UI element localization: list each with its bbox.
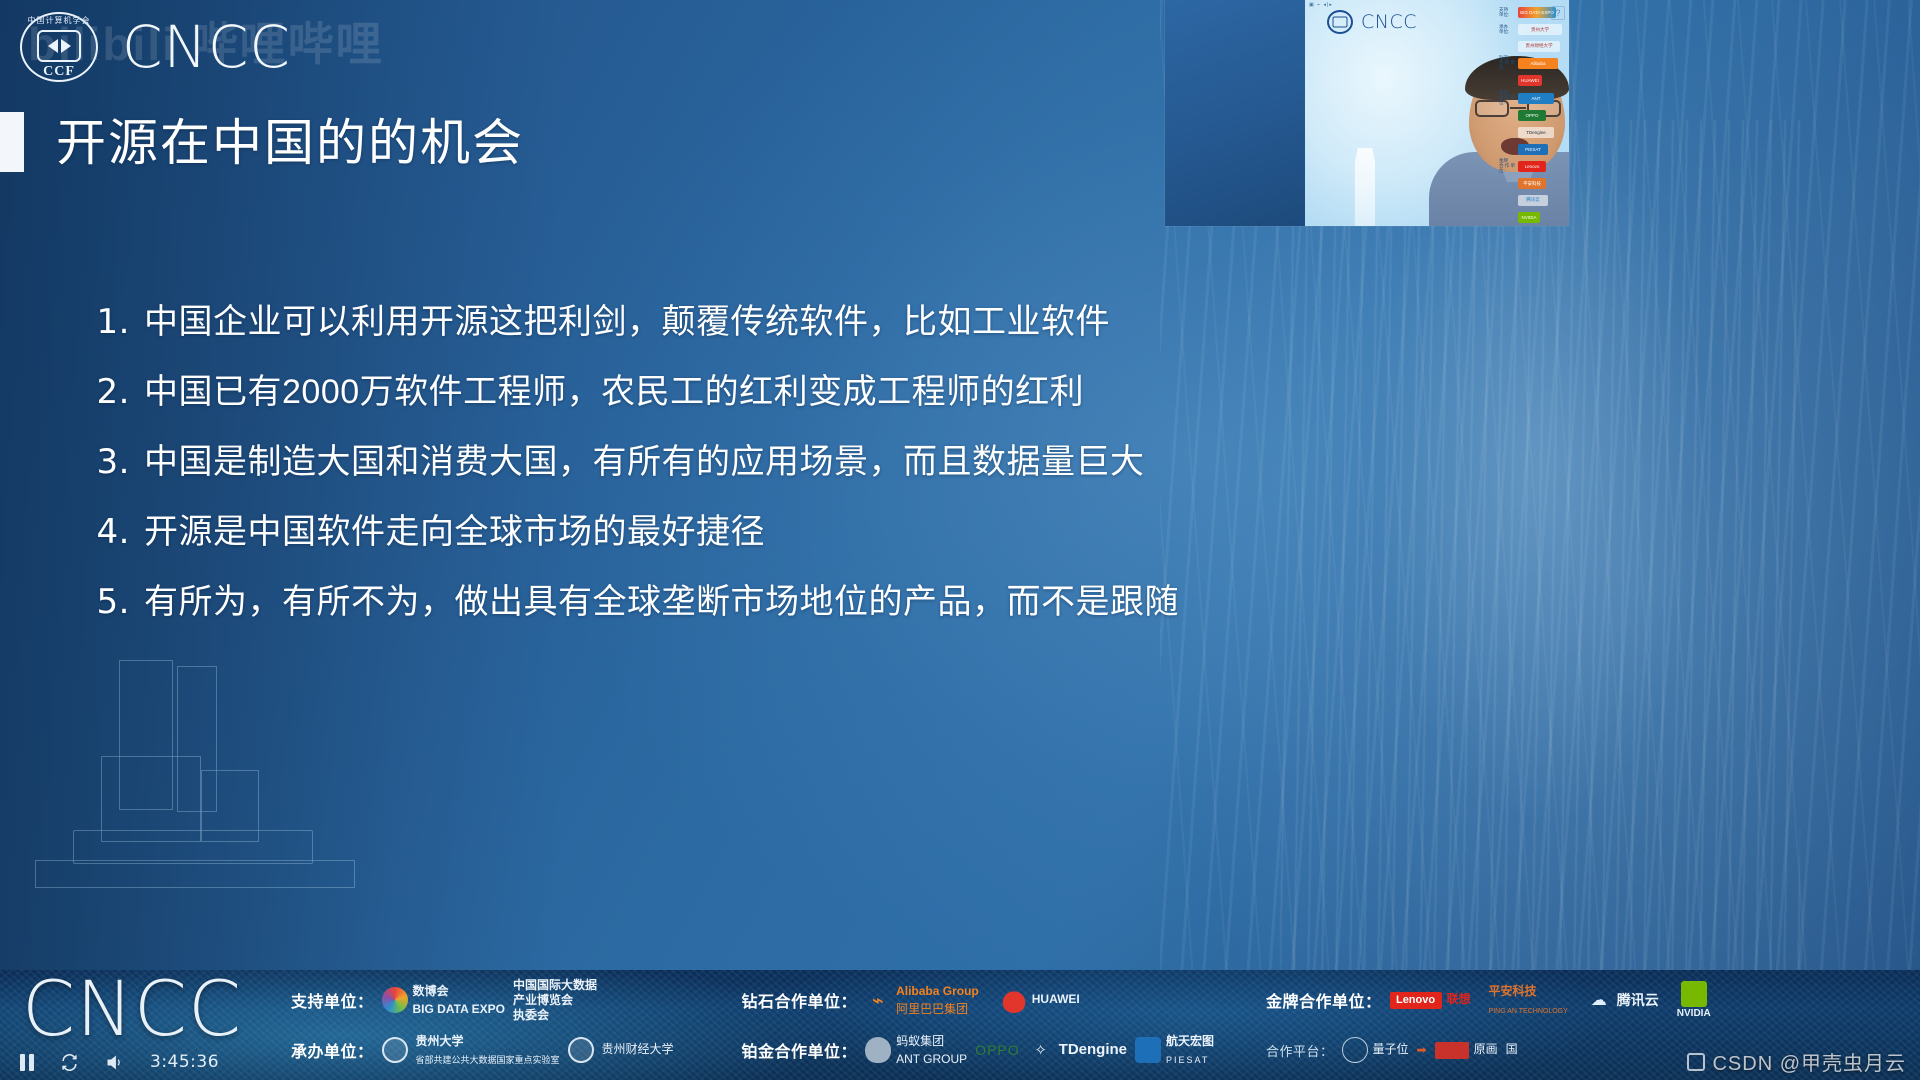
video-sponsor-label: 承办 单位: <box>1499 25 1515 35</box>
pingan-en: PING AN TECHNOLOGY <box>1489 1008 1568 1015</box>
screen-root: bilibili 哔哩哔哩 中国计算机学会 CCF CNCC 开源在中国的的机会… <box>0 0 1920 1080</box>
guizhou-university-name: 贵州大学 <box>416 1034 464 1048</box>
sponsor-columns: 支持单位： 数博会 BIG DATA EXPO 中国国际大数据 产业博览会 执委… <box>285 970 1920 1080</box>
video-status-strip: ▣ ⌁ ◂|▸ <box>1309 2 1333 8</box>
oppo-logo: OPPO <box>975 1037 1019 1063</box>
video-frame: ▣ ⌁ ◂|▸ CNCC ? 支持 单位:BIG DATA EXPO <box>1305 0 1569 226</box>
expo-committee-text: 中国国际大数据 产业博览会 执委会 <box>513 978 597 1023</box>
video-cncc-logo: CNCC <box>1327 10 1417 34</box>
list-item-number: 1. <box>86 302 130 342</box>
list-item: 4. 开源是中国软件走向全球市场的最好捷径 <box>86 504 1206 553</box>
qbitai-icon <box>1342 1037 1368 1063</box>
logo-qbitai: 量子位 <box>1342 1037 1409 1063</box>
sponsor-group-support: 支持单位： 数博会 BIG DATA EXPO 中国国际大数据 产业博览会 执委… <box>285 970 680 1080</box>
sponsor-label-diamond: 钻石合作单位： <box>742 988 858 1012</box>
tencent-cloud-icon: ☁ <box>1586 987 1612 1013</box>
slide-title: 开源在中国的的机会 <box>56 103 524 175</box>
help-badge[interactable]: ? <box>1551 6 1565 20</box>
nvidia-icon <box>1681 981 1707 1007</box>
video-sponsor-label: 金牌 合作单位: <box>1499 159 1515 174</box>
list-item-text: 中国是制造大国和消费大国，有所有的应用场景，而且数据量巨大 <box>144 434 1145 483</box>
ccf-seal-arc-text: 中国计算机学会 <box>20 15 98 26</box>
sponsor-label-platform: 合作平台： <box>1266 1041 1334 1060</box>
ant-group-icon <box>865 1037 891 1063</box>
video-logo-lenovo: Lenovo <box>1518 161 1546 172</box>
big-data-expo-en: BIG DATA EXPO <box>413 1002 505 1016</box>
list-item-number: 4. <box>86 512 130 552</box>
video-logo-nvidia: NVIDIA <box>1518 212 1540 223</box>
cncc-wordmark: CNCC <box>122 13 291 81</box>
presentation-slide: bilibili 哔哩哔哩 中国计算机学会 CCF CNCC 开源在中国的的机会… <box>0 0 1920 1080</box>
video-cncc-wordmark: CNCC <box>1361 11 1417 33</box>
guizhou-university-seal-icon <box>382 1037 408 1063</box>
piesat-en: PIESAT <box>1166 1055 1209 1065</box>
tower-decoration <box>95 660 325 890</box>
logo-tencent-cloud: ☁ 腾讯云 <box>1586 987 1659 1013</box>
video-left-filler <box>1165 0 1305 226</box>
loop-icon <box>60 1053 79 1072</box>
sponsor-label-platinum: 铂金合作单位： <box>742 1038 858 1062</box>
list-item-number: 5. <box>86 582 130 622</box>
tdengine-en: TDengine <box>1059 1041 1127 1058</box>
video-sponsor-label: 铂金 合作单位: <box>1499 91 1515 106</box>
list-item-text: 中国已有2000万软件工程师，农民工的红利变成工程师的红利 <box>144 364 1084 413</box>
sponsor-footer-bar: CNCC 3:45:36 <box>0 970 1920 1080</box>
logo-piesat: 航天宏图 PIESAT <box>1135 1032 1214 1068</box>
huawei-en: HUAWEI <box>1032 993 1080 1007</box>
volume-button[interactable] <box>105 1053 124 1072</box>
video-logo-gzu: 贵州大学 <box>1518 24 1562 35</box>
ant-group-en: ANT GROUP <box>896 1052 967 1066</box>
list-item: 2. 中国已有2000万软件工程师，农民工的红利变成工程师的红利 <box>86 364 1206 413</box>
lenovo-cn: 联想 <box>1447 993 1471 1007</box>
partner-misc-cn: 国 <box>1506 1043 1518 1057</box>
tencent-cloud-cn: 腾讯云 <box>1617 992 1659 1008</box>
big-data-expo-cn: 数博会 <box>413 984 449 998</box>
list-item: 1. 中国企业可以利用开源这把利剑，颠覆传统软件，比如工业软件 <box>86 294 1206 343</box>
logo-alibaba: ⌁ Alibaba Group 阿里巴巴集团 <box>865 982 979 1018</box>
list-item: 3. 中国是制造大国和消费大国，有所有的应用场景，而且数据量巨大 <box>86 434 1206 483</box>
video-sponsor-label: 支持 单位: <box>1499 8 1515 18</box>
list-item: 5. 有所为，有所不为，做出具有全球垄断市场地位的产品，而不是跟随 <box>86 574 1206 623</box>
video-tower-graphic <box>1347 148 1383 226</box>
list-item-text: 中国企业可以利用开源这把利剑，颠覆传统软件，比如工业软件 <box>144 294 1110 343</box>
tdengine-icon: ✧ <box>1028 1037 1054 1063</box>
yuanhua-icon <box>1435 1042 1469 1059</box>
volume-icon <box>105 1053 124 1072</box>
logo-nvidia: NVIDIA <box>1677 981 1711 1020</box>
piesat-icon <box>1135 1037 1161 1063</box>
footer-cncc-wordmark: CNCC <box>22 970 242 1053</box>
guizhou-university-lab: 省部共建公共大数据国家重点实验室 <box>416 1055 560 1065</box>
guizhou-finance-name: 贵州财经大学 <box>602 1043 674 1057</box>
logo-pingan: 平安科技 PING AN TECHNOLOGY <box>1489 982 1568 1018</box>
speaker-video-overlay[interactable]: ▣ ⌁ ◂|▸ CNCC ? 支持 单位:BIG DATA EXPO <box>1165 0 1569 226</box>
list-item-number: 2. <box>86 372 130 412</box>
ccf-seal-icon: 中国计算机学会 CCF <box>20 12 98 82</box>
pause-button[interactable] <box>20 1054 34 1071</box>
logo-lenovo: Lenovo 联想 <box>1390 992 1471 1009</box>
video-logo-gzufe: 贵州财经大学 <box>1518 41 1560 52</box>
video-ccf-seal-icon <box>1327 10 1353 34</box>
huawei-icon <box>1001 987 1027 1013</box>
logo-big-data-expo: 数博会 BIG DATA EXPO <box>382 982 505 1018</box>
alibaba-cn: 阿里巴巴集团 <box>896 1002 968 1016</box>
alibaba-icon: ⌁ <box>865 987 891 1013</box>
lenovo-icon: Lenovo <box>1390 992 1442 1009</box>
logo-huawei: HUAWEI <box>1001 987 1080 1013</box>
pause-icon <box>20 1054 34 1071</box>
waterfall-highlight <box>1280 120 1800 980</box>
player-controls[interactable]: 3:45:36 <box>20 1052 219 1072</box>
partner-red-icon: ➡ <box>1417 1037 1427 1063</box>
list-item-number: 3. <box>86 442 130 482</box>
video-logo-alibaba: Alibaba <box>1518 58 1558 69</box>
list-item-text: 开源是中国软件走向全球市场的最好捷径 <box>144 504 765 553</box>
video-sponsor-strip: 支持 单位:BIG DATA EXPO 承办 单位:贵州大学 贵州财经大学 钻石… <box>1499 6 1567 224</box>
logo-tdengine: ✧ TDengine <box>1028 1037 1127 1063</box>
title-accent-bar <box>0 112 24 172</box>
playback-timestamp: 3:45:36 <box>150 1052 219 1072</box>
sponsor-group-diamond-platinum: 钻石合作单位： ⌁ Alibaba Group 阿里巴巴集团 HUAWEI <box>736 970 1220 1080</box>
ccf-seal-label: CCF <box>20 64 98 80</box>
cncc-brand-logo: 中国计算机学会 CCF CNCC <box>20 12 291 82</box>
video-logo-piesat: PIESAT <box>1518 144 1548 155</box>
bullet-list: 1. 中国企业可以利用开源这把利剑，颠覆传统软件，比如工业软件 2. 中国已有2… <box>86 294 1206 644</box>
video-logo-tencent: 腾讯云 <box>1518 195 1548 206</box>
video-logo-huawei: HUAWEI <box>1518 75 1542 86</box>
video-logo-pingan: 平安科技 <box>1518 178 1546 189</box>
piesat-cn: 航天宏图 <box>1166 1034 1214 1048</box>
big-data-expo-icon <box>382 987 408 1013</box>
ant-group-cn: 蚂蚁集团 <box>896 1034 944 1048</box>
video-sponsor-label: 钻石 合作单位: <box>1499 56 1515 71</box>
loop-button[interactable] <box>60 1053 79 1072</box>
alibaba-en: Alibaba Group <box>896 984 979 998</box>
pingan-cn: 平安科技 <box>1489 984 1537 998</box>
yuanhua-cn: 原画 <box>1474 1043 1498 1057</box>
sponsor-label-support: 支持单位： <box>291 988 374 1012</box>
video-logo-tdengine: TDengine <box>1518 127 1554 138</box>
video-logo-oppo: OPPO <box>1518 110 1546 121</box>
logo-ant-group: 蚂蚁集团 ANT GROUP <box>865 1032 967 1068</box>
logo-yuanhua: 原画 <box>1435 1042 1498 1059</box>
qbitai-cn: 量子位 <box>1373 1043 1409 1057</box>
list-item-text: 有所为，有所不为，做出具有全球垄断市场地位的产品，而不是跟随 <box>144 574 1179 623</box>
sponsor-label-gold: 金牌合作单位： <box>1266 988 1382 1012</box>
video-logo-ant: ANT <box>1518 93 1554 104</box>
sponsor-group-gold-platform: 金牌合作单位： Lenovo 联想 平安科技 PING AN TECHNOLOG… <box>1260 970 1717 1080</box>
guizhou-finance-seal-icon <box>568 1037 594 1063</box>
nvidia-en: NVIDIA <box>1677 1008 1711 1020</box>
sponsor-label-organizer: 承办单位： <box>291 1038 374 1062</box>
